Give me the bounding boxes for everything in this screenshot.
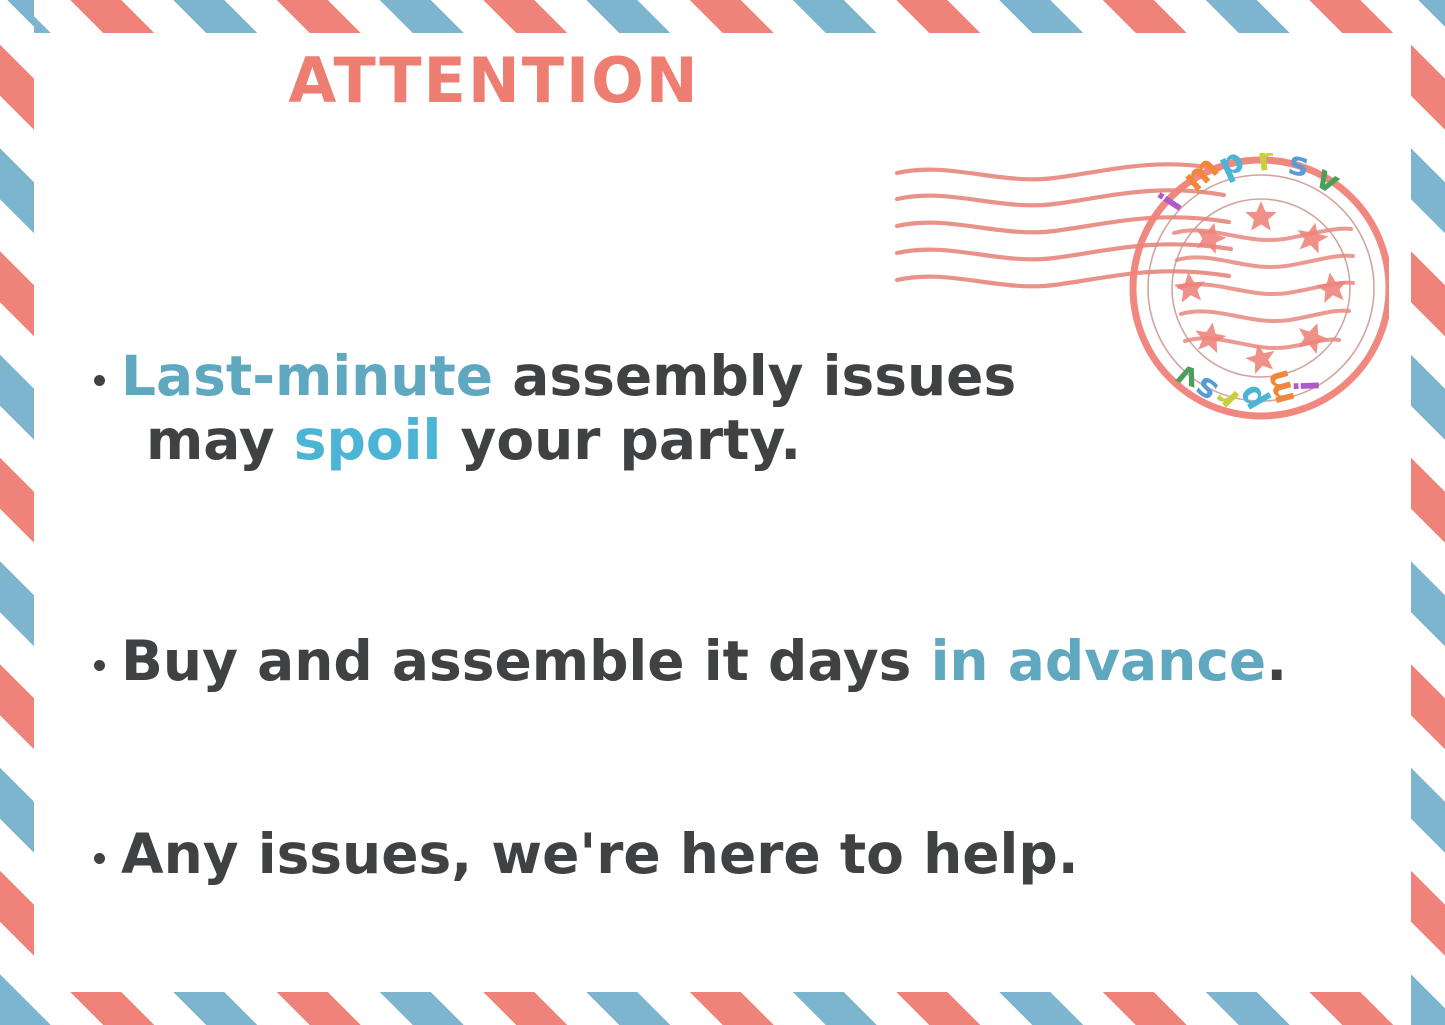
cancellation-waves: [897, 164, 1231, 286]
bullet-dot-icon: [94, 853, 105, 864]
page-title: ATTENTION: [34, 50, 954, 112]
bullet-line: may spoil your party.: [94, 409, 1404, 473]
bullet-help: Any issues, we're here to help.: [94, 823, 1404, 887]
stamp-letter-r-top: r: [1255, 153, 1277, 179]
stamp-letter-v-top: v: [1309, 157, 1348, 202]
attention-card: ATTENTION: [0, 0, 1445, 1025]
bullet-line: Any issues, we're here to help.: [94, 823, 1404, 887]
airmail-border-bottom: [0, 992, 1445, 1025]
bullet-text-run: assembly issues: [493, 344, 1016, 408]
stamp-letter-m-top: m: [1175, 153, 1227, 199]
bullet-line: Last-minute assembly issues: [94, 345, 1404, 409]
bullet-text-run: Last-minute: [121, 344, 493, 408]
bullet-line: Buy and assemble it days in advance.: [94, 630, 1404, 694]
bullet-dot-icon: [94, 375, 105, 386]
bullet-text-run: spoil: [294, 408, 442, 472]
bullet-text-run: may: [146, 408, 294, 472]
stamp-cancellation-waves: [1174, 229, 1353, 348]
bullet-text-run: .: [1266, 629, 1287, 693]
stamp-letter-s-top: s: [1285, 153, 1312, 185]
stamp-brand-top: i m p r s v: [1151, 153, 1348, 217]
bullet-text-run: in advance: [931, 629, 1267, 693]
bullet-dot-icon: [94, 660, 105, 671]
bullet-last-minute: Last-minute assembly issues may spoil yo…: [94, 345, 1404, 473]
bullet-text-run: Any issues, we're here to help.: [121, 822, 1079, 886]
airmail-border-left: [0, 0, 34, 1025]
bullet-text-run: Buy and assemble it days: [121, 629, 931, 693]
card-content: ATTENTION: [34, 33, 1411, 992]
stamp-letter-p-top: p: [1212, 153, 1250, 185]
stamp-letter-i-top: i: [1151, 187, 1190, 218]
airmail-border-right: [1411, 0, 1445, 1025]
bullet-text-run: your party.: [441, 408, 801, 472]
airmail-border-top: [0, 0, 1445, 33]
bullet-buy-in-advance: Buy and assemble it days in advance.: [94, 630, 1404, 694]
